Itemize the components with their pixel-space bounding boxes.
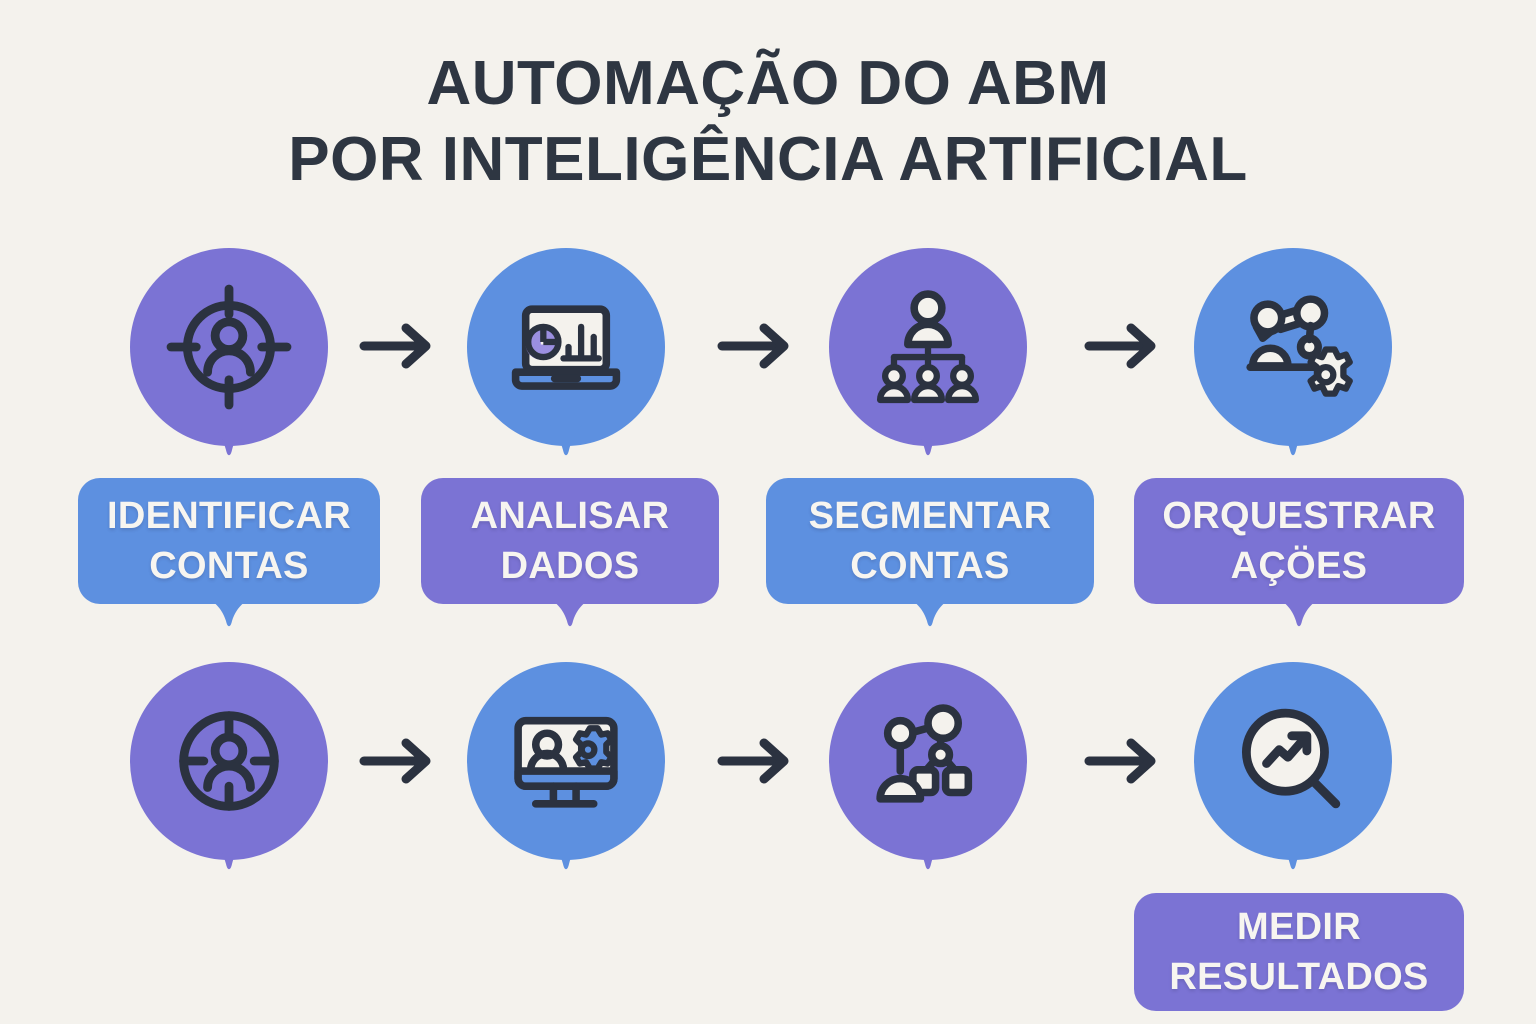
step-4-label-line-1: ORQUESTRAR (1162, 495, 1435, 537)
target-person-icon (166, 698, 292, 824)
step-5-icon-bubble[interactable] (130, 662, 328, 860)
network-nodes-icon (865, 698, 991, 824)
step-4-label-line-2: AÇÖES (1231, 545, 1368, 587)
magnifier-trend-icon (1230, 698, 1356, 824)
infographic-canvas: AUTOMAÇÃO DO ABM POR INTELIGÊNCIA ARTIFI… (0, 0, 1536, 1024)
step-4-label-text: ORQUESTRAR AÇÖES (1150, 491, 1447, 591)
step-8-label-line-2: RESULTADOS (1169, 956, 1428, 998)
step-3-label-line-2: CONTAS (850, 545, 1009, 587)
step-1-label-line-2: CONTAS (149, 545, 308, 587)
org-hierarchy-icon (865, 284, 991, 410)
bubble-tail (549, 838, 583, 874)
step-2-label-text: ANALISAR DADOS (459, 491, 682, 591)
step-3-icon-bubble[interactable] (829, 248, 1027, 446)
bubble-tail (1276, 424, 1310, 460)
step-2-label-line-2: DADOS (501, 545, 640, 587)
target-person-icon (166, 284, 292, 410)
step-8-label-line-1: MEDIR (1237, 906, 1361, 948)
bubble-tail (911, 424, 945, 460)
step-4-label[interactable]: ORQUESTRAR AÇÖES (1134, 478, 1464, 604)
arrow-right-icon-4 (358, 735, 438, 787)
step-1-label[interactable]: IDENTIFICAR CONTAS (78, 478, 380, 604)
bubble-tail (212, 424, 246, 460)
label-tail (551, 600, 589, 630)
step-3-label-line-1: SEGMENTAR (809, 495, 1052, 537)
step-4-icon-bubble[interactable] (1194, 248, 1392, 446)
step-7-icon-bubble[interactable] (829, 662, 1027, 860)
step-8-icon-bubble[interactable] (1194, 662, 1392, 860)
arrow-right-icon-2 (716, 320, 796, 372)
bubble-tail (911, 838, 945, 874)
laptop-analytics-icon (503, 284, 629, 410)
monitor-person-gear-icon (503, 698, 629, 824)
bubble-tail (1276, 838, 1310, 874)
robot-arm-gear-icon (1230, 284, 1356, 410)
page-title-line-1: AUTOMAÇÃO DO ABM (0, 46, 1536, 122)
page-title-line-2: POR INTELIGÊNCIA ARTIFICIAL (0, 122, 1536, 198)
label-tail (1280, 600, 1318, 630)
page-title: AUTOMAÇÃO DO ABM POR INTELIGÊNCIA ARTIFI… (0, 46, 1536, 198)
arrow-right-icon-1 (358, 320, 438, 372)
step-1-label-text: IDENTIFICAR CONTAS (95, 491, 363, 591)
bubble-tail (212, 838, 246, 874)
step-6-icon-bubble[interactable] (467, 662, 665, 860)
bubble-tail (549, 424, 583, 460)
arrow-right-icon-5 (716, 735, 796, 787)
step-1-label-line-1: IDENTIFICAR (107, 495, 351, 537)
arrow-right-icon-3 (1083, 320, 1163, 372)
label-tail (911, 600, 949, 630)
step-3-label-text: SEGMENTAR CONTAS (797, 491, 1064, 591)
step-1-icon-bubble[interactable] (130, 248, 328, 446)
step-2-label[interactable]: ANALISAR DADOS (421, 478, 719, 604)
step-2-icon-bubble[interactable] (467, 248, 665, 446)
arrow-right-icon-6 (1083, 735, 1163, 787)
step-8-label[interactable]: MEDIR RESULTADOS (1134, 893, 1464, 1011)
step-8-label-text: MEDIR RESULTADOS (1157, 902, 1440, 1002)
label-tail (210, 600, 248, 630)
step-2-label-line-1: ANALISAR (471, 495, 670, 537)
step-3-label[interactable]: SEGMENTAR CONTAS (766, 478, 1094, 604)
